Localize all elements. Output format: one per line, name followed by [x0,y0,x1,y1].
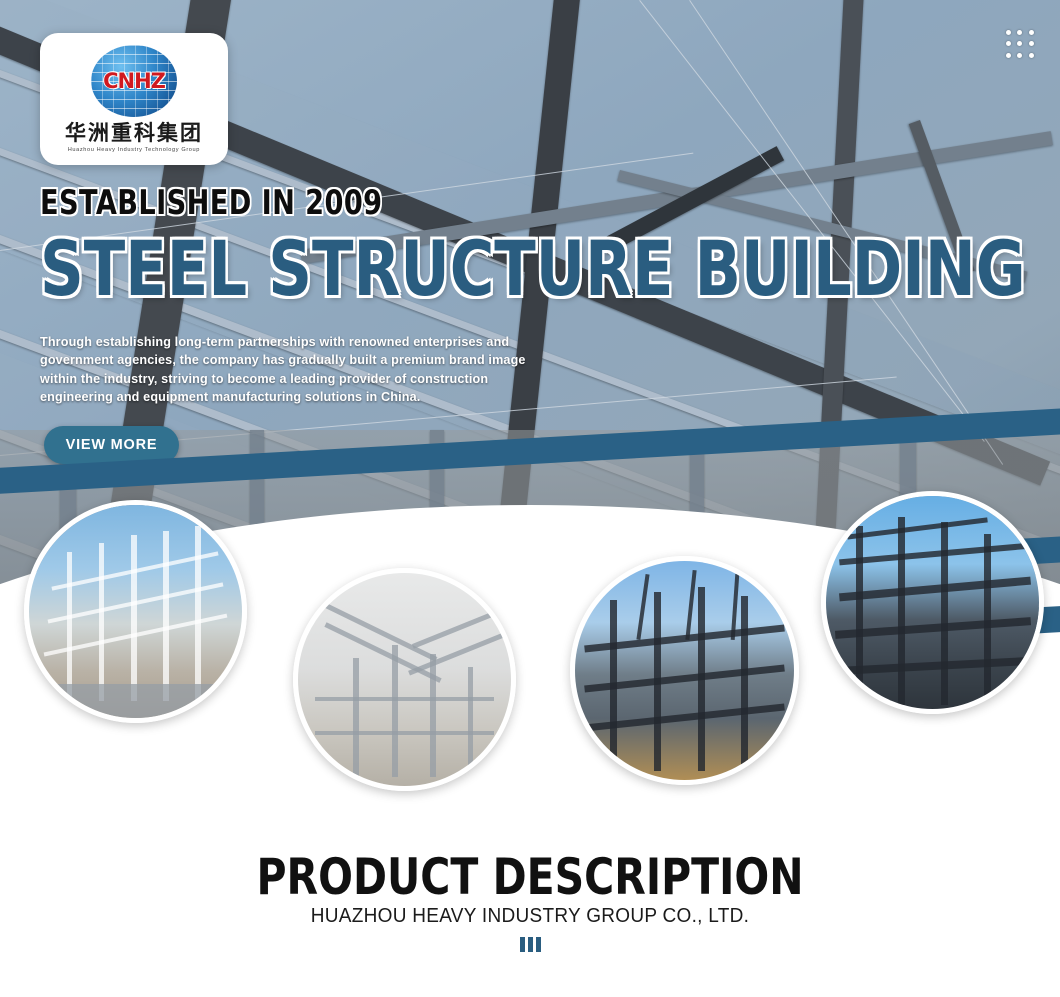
grid-dot [1006,53,1011,58]
globe-icon: CNHZ [91,45,177,117]
roof-post [685,570,696,640]
promo-banner-page: CNHZ 华洲重科集团 Huazhou Heavy Industry Techn… [0,0,1060,997]
frame-column [856,526,863,705]
hero-paragraph: Through establishing long-term partnersh… [40,333,540,406]
logo-chinese-name: 华洲重科集团 [65,123,203,144]
gallery-circle-2[interactable] [293,568,516,791]
frame-column [430,654,436,778]
grey-gable-truss-frame-photo [298,573,511,786]
frame-column [941,522,948,705]
ground [29,684,242,718]
frame-beam [315,731,494,735]
frame-column [741,596,748,771]
multistorey-steel-frame-cloudy-sky-photo [575,561,794,780]
grid-dot [1029,30,1034,35]
grid-dot [1017,41,1022,46]
gallery-circle-1[interactable] [24,500,247,723]
divider-bar [520,937,525,952]
product-description-title: PRODUCT DESCRIPTION [95,852,964,902]
section-divider-bars [0,937,1060,952]
divider-bar [528,937,533,952]
frame-column [67,552,72,701]
hero-eyebrow: ESTABLISHED IN 2009 [40,186,382,220]
floor-beam [839,577,1031,602]
gallery-circle-4[interactable] [821,491,1044,714]
grid-dot [1029,41,1034,46]
grid-dot [1017,30,1022,35]
frame-column [698,587,705,771]
frame-column [654,592,661,772]
frame-column [984,534,991,704]
white-steel-frame-warehouse-photo [29,505,242,718]
frame-column [898,517,905,704]
frame-column [163,531,169,701]
logo-mark-text: CNHZ [103,69,165,93]
frame-column [131,535,137,701]
grid-dot [1006,41,1011,46]
product-description-subtitle: HUAZHOU HEAVY INDUSTRY GROUP CO., LTD. [27,905,1034,928]
divider-bar [536,937,541,952]
frame-column [610,600,617,771]
frame-column [99,543,104,701]
company-logo-card[interactable]: CNHZ 华洲重科集团 Huazhou Heavy Industry Techn… [40,33,228,165]
frame-column [392,645,398,777]
gallery-circle-3[interactable] [570,556,799,785]
logo-english-name: Huazhou Heavy Industry Technology Group [68,147,200,153]
floor-beam [834,617,1030,639]
frame-beam [315,697,494,701]
grid-dot [1006,30,1011,35]
frame-column [468,667,473,778]
grid-dot [1017,53,1022,58]
roof-beam [848,517,988,539]
floor-beam [834,657,1030,675]
frame-column [353,658,359,777]
grid-dots-icon[interactable] [1006,30,1036,60]
floor-beam [839,543,1030,566]
roof-post [636,574,649,640]
black-steel-frame-blue-sky-photo [826,496,1039,709]
grid-dot [1029,53,1034,58]
hero-headline: STEEL STRUCTURE BUILDING [40,234,1026,304]
rafter [412,604,513,649]
frame-column [195,526,201,701]
